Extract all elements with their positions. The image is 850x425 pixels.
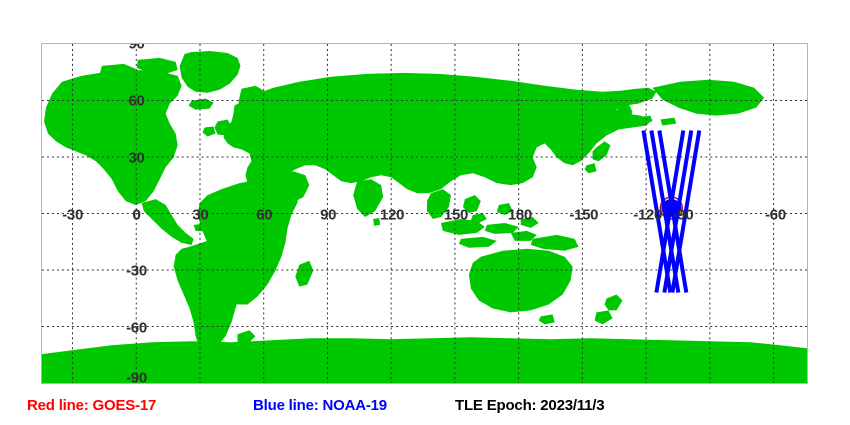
lon-tick--120: -120 [633,207,662,222]
satellite-groundtrack-figure: -30 0 30 60 90 120 150 180 -150 -120 -90… [0,0,850,425]
lon-tick-60: 60 [256,207,272,222]
lon-tick-180: 180 [508,207,532,222]
lat-tick--90: -90 [126,371,147,385]
lon-tick--150: -150 [569,207,598,222]
lat-tick-0: 0 [132,207,140,222]
lon-tick--90: -90 [673,207,694,222]
lon-tick-120: 120 [380,207,404,222]
lon-tick--30: -30 [62,207,83,222]
map-plot-area: -30 0 30 60 90 120 150 180 -150 -120 -90… [41,43,808,384]
lat-tick-90: 90 [128,43,144,52]
lon-tick-90: 90 [320,207,336,222]
lat-tick--60: -60 [126,321,147,336]
lon-tick-150: 150 [444,207,468,222]
legend-goes17: Red line: GOES-17 [27,398,156,413]
lon-tick--60: -60 [765,207,786,222]
legend-noaa19: Blue line: NOAA-19 [253,398,387,413]
lon-tick-30: 30 [192,207,208,222]
legend-tle-epoch: TLE Epoch: 2023/11/3 [455,398,604,413]
lat-tick--30: -30 [126,264,147,279]
figure-legend: Red line: GOES-17 Blue line: NOAA-19 TLE… [0,393,850,421]
lat-tick-30: 30 [128,150,144,165]
lat-tick-60: 60 [128,93,144,108]
